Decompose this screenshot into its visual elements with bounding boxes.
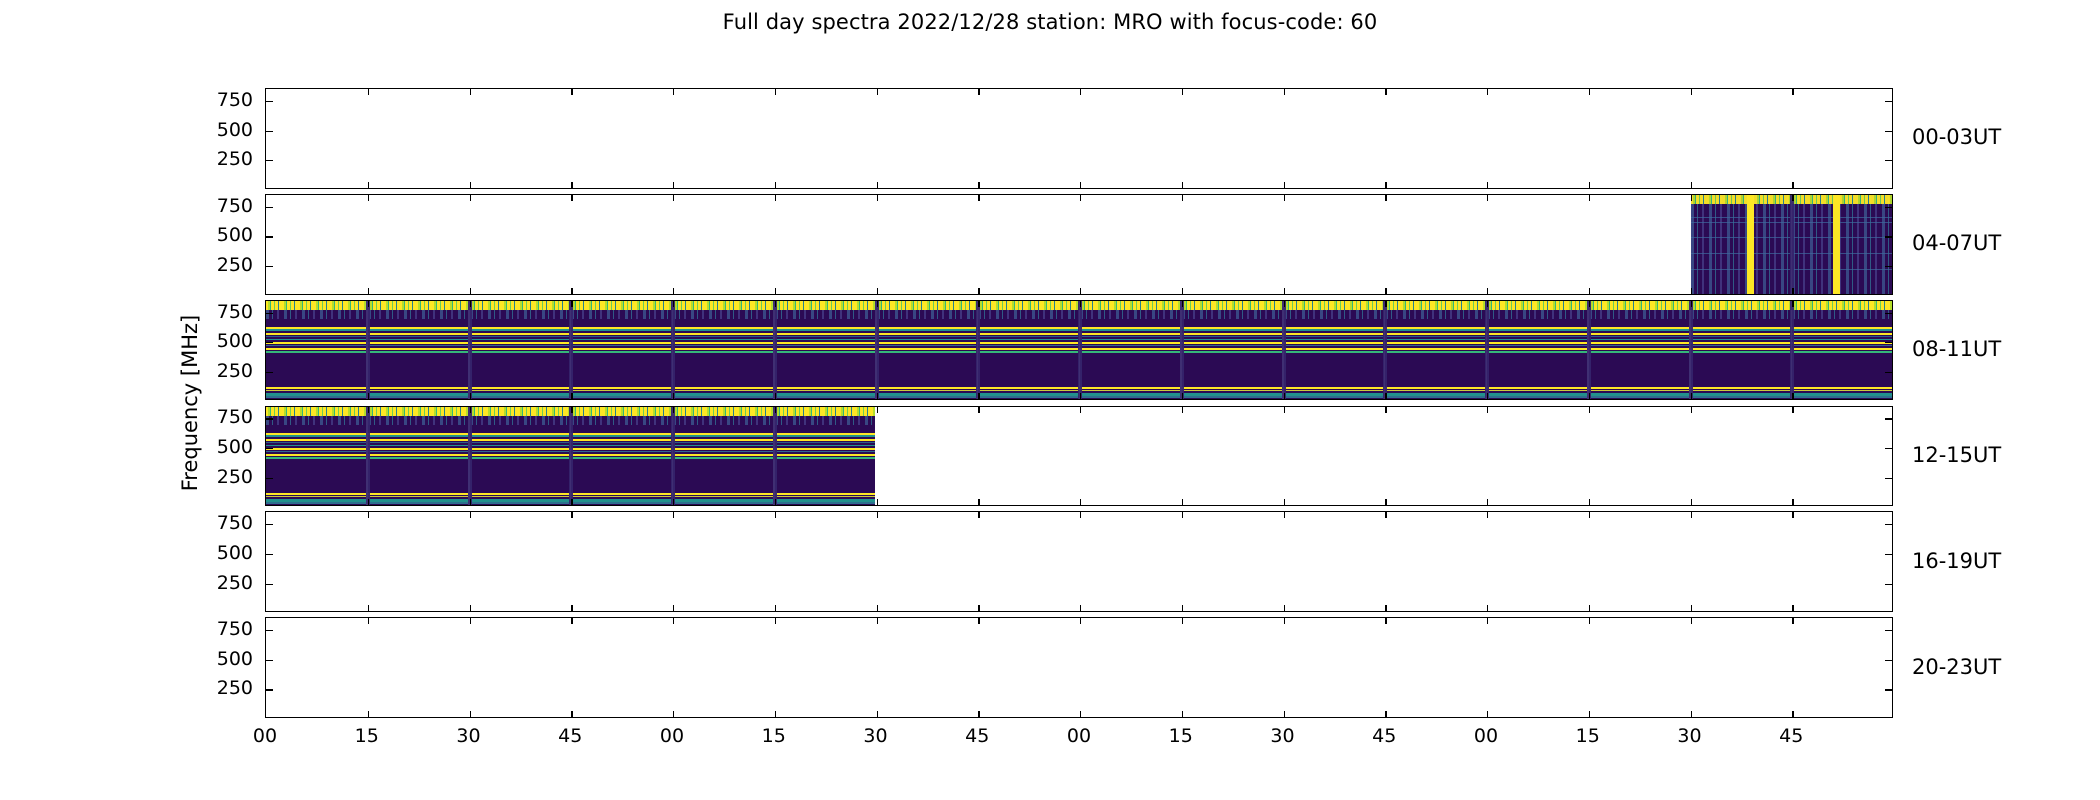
y-tick-label: 750: [183, 91, 253, 110]
x-tick-mark: [1182, 407, 1183, 413]
emission-band: [368, 457, 468, 459]
emission-band: [877, 339, 977, 341]
emission-band: [266, 442, 366, 443]
block-seam: [1689, 301, 1693, 400]
emission-band: [368, 435, 468, 437]
emission-band: [368, 442, 468, 443]
noise-texture: [1080, 310, 1180, 319]
emission-band: [877, 342, 977, 344]
emission-band: [1284, 345, 1384, 346]
row-label-08-11ut: 08-11UT: [1912, 339, 2001, 360]
x-tick-mark: [1080, 618, 1081, 624]
x-tick-mark: [1487, 512, 1488, 518]
emission-band: [1691, 329, 1791, 331]
emission-band: [266, 502, 366, 504]
x-tick-mark: [775, 89, 776, 95]
emission-band: [470, 435, 570, 437]
noise-texture: [571, 310, 671, 319]
y-tick-label: 750: [183, 197, 253, 216]
x-tick-mark: [1385, 195, 1386, 201]
emission-band: [571, 396, 671, 398]
emission-band: [1284, 351, 1384, 353]
top-emission-band: [1182, 301, 1282, 310]
y-tick-mark: [266, 160, 273, 161]
x-tick-label: 15: [744, 727, 804, 746]
emission-band: [1487, 351, 1587, 353]
emission-band: [368, 396, 468, 398]
x-tick-mark: [1182, 618, 1183, 624]
x-tick-mark: [1182, 499, 1183, 505]
emission-band: [571, 329, 671, 331]
emission-band: [775, 445, 875, 447]
emission-band: [470, 496, 570, 498]
x-tick-mark: [877, 499, 878, 505]
x-tick-mark: [1284, 288, 1285, 294]
x-tick-mark: [368, 393, 369, 399]
x-tick-mark: [673, 711, 674, 717]
x-tick-mark: [470, 195, 471, 201]
x-tick-mark: [1080, 605, 1081, 611]
spectrogram-panel-16-19ut: [265, 511, 1893, 612]
emission-band: [1487, 336, 1587, 337]
y-tick-mark: [1885, 131, 1892, 132]
x-tick-mark: [877, 407, 878, 413]
emission-band: [775, 336, 875, 337]
emission-band: [1385, 396, 1485, 398]
x-tick-mark: [1385, 512, 1386, 518]
emission-band: [266, 396, 366, 398]
figure-title: Full day spectra 2022/12/28 station: MRO…: [0, 10, 2100, 34]
emission-band: [775, 339, 875, 341]
spectrogram-block: [266, 301, 366, 400]
x-tick-mark: [1691, 499, 1692, 505]
x-tick-mark: [1080, 512, 1081, 518]
emission-band: [1691, 222, 1791, 224]
x-tick-mark: [1691, 618, 1692, 624]
x-tick-mark: [1792, 182, 1793, 188]
emission-band: [266, 496, 366, 498]
emission-band: [978, 329, 1078, 331]
noise-texture: [1792, 195, 1892, 294]
emission-band: [673, 435, 773, 437]
x-tick-mark: [978, 605, 979, 611]
x-tick-mark: [368, 301, 369, 307]
x-tick-mark: [470, 605, 471, 611]
emission-band: [571, 390, 671, 392]
x-tick-mark: [368, 182, 369, 188]
x-tick-mark: [1182, 195, 1183, 201]
emission-band: [266, 336, 366, 337]
emission-band: [1182, 345, 1282, 346]
x-tick-mark: [1182, 512, 1183, 518]
x-tick-mark: [1792, 711, 1793, 717]
emission-band: [470, 336, 570, 337]
noise-texture: [1792, 310, 1892, 319]
x-tick-mark: [877, 512, 878, 518]
x-tick-mark: [1792, 407, 1793, 413]
y-tick-label: 500: [183, 544, 253, 563]
y-tick-label: 500: [183, 226, 253, 245]
x-tick-mark: [1691, 195, 1692, 201]
top-emission-band: [1487, 301, 1587, 310]
noise-texture: [1182, 310, 1282, 319]
x-tick-mark: [775, 618, 776, 624]
spectrogram-panel-12-15ut: [265, 406, 1893, 507]
emission-band: [877, 329, 977, 331]
emission-band: [775, 435, 875, 437]
x-tick-label: 45: [1761, 727, 1821, 746]
emission-band: [368, 336, 468, 337]
x-tick-mark: [1691, 711, 1692, 717]
spectrogram-block: [775, 301, 875, 400]
x-tick-mark: [368, 618, 369, 624]
emission-band: [978, 396, 1078, 398]
x-tick-mark: [1080, 195, 1081, 201]
saturation-stripe: [1833, 195, 1840, 294]
x-tick-mark: [877, 618, 878, 624]
emission-band: [673, 451, 773, 452]
x-tick-mark: [1284, 512, 1285, 518]
x-tick-mark: [571, 182, 572, 188]
emission-band: [877, 396, 977, 398]
x-tick-mark: [1385, 301, 1386, 307]
emission-band: [1080, 351, 1180, 353]
emission-band: [571, 336, 671, 337]
emission-band: [1385, 390, 1485, 392]
top-emission-band: [470, 301, 570, 310]
x-tick-mark: [775, 288, 776, 294]
x-tick-mark: [1284, 499, 1285, 505]
emission-band: [1385, 336, 1485, 337]
x-tick-mark: [1385, 711, 1386, 717]
emission-band: [1182, 396, 1282, 398]
x-tick-mark: [1589, 301, 1590, 307]
emission-band: [571, 496, 671, 498]
x-tick-mark: [470, 288, 471, 294]
x-tick-mark: [978, 301, 979, 307]
emission-band: [1691, 237, 1791, 239]
x-tick-mark: [877, 288, 878, 294]
emission-band: [266, 342, 366, 344]
spectrogram-data: [266, 407, 877, 506]
y-tick-mark: [266, 101, 273, 102]
emission-band: [1691, 269, 1791, 271]
emission-band: [673, 448, 773, 450]
x-tick-mark: [978, 512, 979, 518]
y-tick-mark: [1885, 554, 1892, 555]
emission-band: [368, 342, 468, 344]
emission-band: [368, 329, 468, 331]
x-tick-mark: [368, 89, 369, 95]
x-tick-mark: [673, 499, 674, 505]
y-tick-label: 750: [183, 408, 253, 427]
emission-band: [1385, 342, 1485, 344]
x-tick-mark: [1080, 301, 1081, 307]
x-tick-mark: [775, 393, 776, 399]
row-label-16-19ut: 16-19UT: [1912, 551, 2001, 572]
x-tick-mark: [1385, 499, 1386, 505]
emission-band: [470, 390, 570, 392]
x-tick-mark: [673, 512, 674, 518]
emission-band: [775, 396, 875, 398]
x-tick-mark: [470, 182, 471, 188]
x-tick-mark: [1589, 393, 1590, 399]
x-tick-mark: [1792, 89, 1793, 95]
noise-texture: [1284, 310, 1384, 319]
emission-band: [1792, 237, 1892, 239]
emission-band: [470, 445, 570, 447]
x-tick-mark: [470, 711, 471, 717]
emission-band: [571, 448, 671, 450]
emission-band: [1284, 339, 1384, 341]
emission-band: [266, 329, 366, 331]
emission-band: [1691, 253, 1791, 255]
top-emission-band: [1284, 301, 1384, 310]
emission-band: [470, 339, 570, 341]
x-tick-mark: [978, 182, 979, 188]
x-tick-mark: [1080, 393, 1081, 399]
block-seam: [1078, 301, 1082, 400]
x-tick-mark: [1691, 182, 1692, 188]
x-tick-mark: [1691, 605, 1692, 611]
block-seam: [468, 301, 472, 400]
emission-band: [978, 390, 1078, 392]
spectrogram-block: [673, 301, 773, 400]
emission-band: [470, 442, 570, 443]
x-tick-mark: [571, 512, 572, 518]
x-tick-mark: [673, 605, 674, 611]
x-tick-mark: [1080, 499, 1081, 505]
x-tick-mark: [1182, 301, 1183, 307]
block-seam: [1282, 301, 1286, 400]
x-tick-mark: [1080, 407, 1081, 413]
block-seam: [1587, 301, 1591, 400]
spectrogram-block: [877, 301, 977, 400]
x-tick-label: 15: [1151, 727, 1211, 746]
emission-band: [470, 342, 570, 344]
x-tick-mark: [877, 89, 878, 95]
x-tick-mark: [1792, 512, 1793, 518]
emission-band: [775, 329, 875, 331]
emission-band: [1080, 396, 1180, 398]
noise-texture: [1691, 195, 1791, 294]
top-emission-band: [571, 301, 671, 310]
emission-band: [673, 390, 773, 392]
emission-band: [266, 445, 366, 447]
emission-band: [1691, 390, 1791, 392]
emission-band: [266, 457, 366, 459]
y-tick-label: 750: [183, 620, 253, 639]
x-tick-mark: [1487, 605, 1488, 611]
emission-band: [1284, 329, 1384, 331]
x-tick-mark: [673, 288, 674, 294]
x-tick-mark: [1284, 301, 1285, 307]
x-tick-mark: [1284, 711, 1285, 717]
block-seam: [1485, 301, 1489, 400]
emission-band: [978, 336, 1078, 337]
spectrogram-figure: Full day spectra 2022/12/28 station: MRO…: [0, 0, 2100, 800]
emission-band: [877, 351, 977, 353]
emission-band: [266, 339, 366, 341]
emission-band: [1691, 217, 1791, 219]
noise-texture: [673, 310, 773, 319]
emission-band: [266, 345, 366, 346]
x-tick-mark: [877, 195, 878, 201]
x-tick-mark: [1487, 182, 1488, 188]
emission-band: [775, 342, 875, 344]
y-tick-mark: [1885, 313, 1892, 314]
emission-band: [1589, 351, 1689, 353]
block-seam: [1180, 301, 1184, 400]
y-tick-mark: [1885, 101, 1892, 102]
emission-band: [877, 345, 977, 346]
x-tick-label: 15: [337, 727, 397, 746]
emission-band: [1182, 329, 1282, 331]
x-tick-mark: [1589, 512, 1590, 518]
x-tick-mark: [571, 618, 572, 624]
emission-band: [571, 339, 671, 341]
noise-texture: [775, 416, 875, 425]
emission-band: [1792, 329, 1892, 331]
x-tick-mark: [1589, 711, 1590, 717]
x-tick-mark: [1385, 605, 1386, 611]
x-tick-mark: [571, 195, 572, 201]
row-label-20-23ut: 20-23UT: [1912, 657, 2001, 678]
x-tick-mark: [673, 301, 674, 307]
top-emission-band: [266, 301, 366, 310]
x-tick-mark: [775, 499, 776, 505]
noise-texture: [368, 310, 468, 319]
x-tick-mark: [1284, 618, 1285, 624]
emission-band: [978, 339, 1078, 341]
emission-band: [1487, 396, 1587, 398]
y-tick-mark: [266, 313, 273, 314]
x-tick-mark: [1182, 605, 1183, 611]
emission-band: [673, 339, 773, 341]
spectrogram-block: [1182, 301, 1282, 400]
emission-band: [1487, 342, 1587, 344]
x-tick-mark: [775, 182, 776, 188]
x-tick-mark: [877, 605, 878, 611]
x-tick-mark: [1691, 301, 1692, 307]
emission-band: [1792, 222, 1892, 224]
noise-texture: [978, 310, 1078, 319]
emission-band: [1284, 336, 1384, 337]
x-tick-mark: [1589, 195, 1590, 201]
x-tick-mark: [1487, 618, 1488, 624]
x-tick-mark: [470, 512, 471, 518]
emission-band: [1589, 329, 1689, 331]
top-emission-band: [775, 407, 875, 416]
y-tick-label: 250: [183, 574, 253, 593]
emission-band: [775, 457, 875, 459]
top-emission-band: [1385, 301, 1485, 310]
y-tick-mark: [1885, 418, 1892, 419]
y-tick-mark: [1885, 448, 1892, 449]
x-tick-mark: [673, 393, 674, 399]
x-tick-mark: [1182, 288, 1183, 294]
spectrogram-panel-00-03ut: [265, 88, 1893, 189]
x-tick-mark: [673, 407, 674, 413]
emission-band: [1487, 329, 1587, 331]
x-tick-mark: [978, 499, 979, 505]
emission-band: [1080, 345, 1180, 346]
emission-band: [1487, 345, 1587, 346]
block-seam: [569, 301, 573, 400]
x-tick-mark: [1385, 393, 1386, 399]
x-tick-mark: [978, 407, 979, 413]
block-seam: [773, 407, 777, 506]
top-emission-band: [775, 301, 875, 310]
top-emission-band: [978, 301, 1078, 310]
emission-band: [1080, 329, 1180, 331]
x-tick-mark: [470, 393, 471, 399]
emission-band: [1792, 339, 1892, 341]
emission-band: [368, 339, 468, 341]
noise-texture: [877, 310, 977, 319]
emission-band: [1080, 342, 1180, 344]
x-tick-label: 45: [540, 727, 600, 746]
block-seam: [671, 301, 675, 400]
y-tick-label: 500: [183, 121, 253, 140]
emission-band: [1691, 345, 1791, 346]
spectrogram-block: [1589, 301, 1689, 400]
emission-band: [673, 342, 773, 344]
x-tick-label: 45: [947, 727, 1007, 746]
x-tick-label: 15: [1558, 727, 1618, 746]
spectrogram-data: [1691, 195, 1894, 294]
noise-texture: [266, 416, 366, 425]
spectrogram-block: [978, 301, 1078, 400]
x-tick-mark: [1182, 393, 1183, 399]
emission-band: [1080, 336, 1180, 337]
x-tick-mark: [571, 89, 572, 95]
x-tick-mark: [1792, 618, 1793, 624]
y-tick-mark: [1885, 478, 1892, 479]
noise-texture: [1691, 310, 1791, 319]
emission-band: [978, 345, 1078, 346]
y-tick-mark: [266, 372, 273, 373]
spectrogram-panel-20-23ut: [265, 617, 1893, 718]
emission-band: [673, 329, 773, 331]
emission-band: [266, 451, 366, 452]
emission-band: [1182, 351, 1282, 353]
noise-texture: [775, 310, 875, 319]
y-tick-mark: [266, 689, 273, 690]
y-tick-label: 750: [183, 303, 253, 322]
emission-band: [673, 345, 773, 346]
top-emission-band: [1589, 301, 1689, 310]
emission-band: [673, 396, 773, 398]
emission-band: [775, 390, 875, 392]
x-tick-mark: [1284, 89, 1285, 95]
block-seam: [366, 407, 370, 506]
y-tick-mark: [266, 478, 273, 479]
y-tick-mark: [266, 448, 273, 449]
noise-texture: [673, 416, 773, 425]
emission-band: [1691, 339, 1791, 341]
top-emission-band: [470, 407, 570, 416]
emission-band: [978, 342, 1078, 344]
y-tick-mark: [1885, 584, 1892, 585]
emission-band: [1385, 351, 1485, 353]
block-seam: [1790, 195, 1794, 294]
x-tick-mark: [470, 407, 471, 413]
emission-band: [1691, 342, 1791, 344]
top-emission-band: [1691, 301, 1791, 310]
top-emission-band: [877, 301, 977, 310]
y-tick-label: 250: [183, 256, 253, 275]
